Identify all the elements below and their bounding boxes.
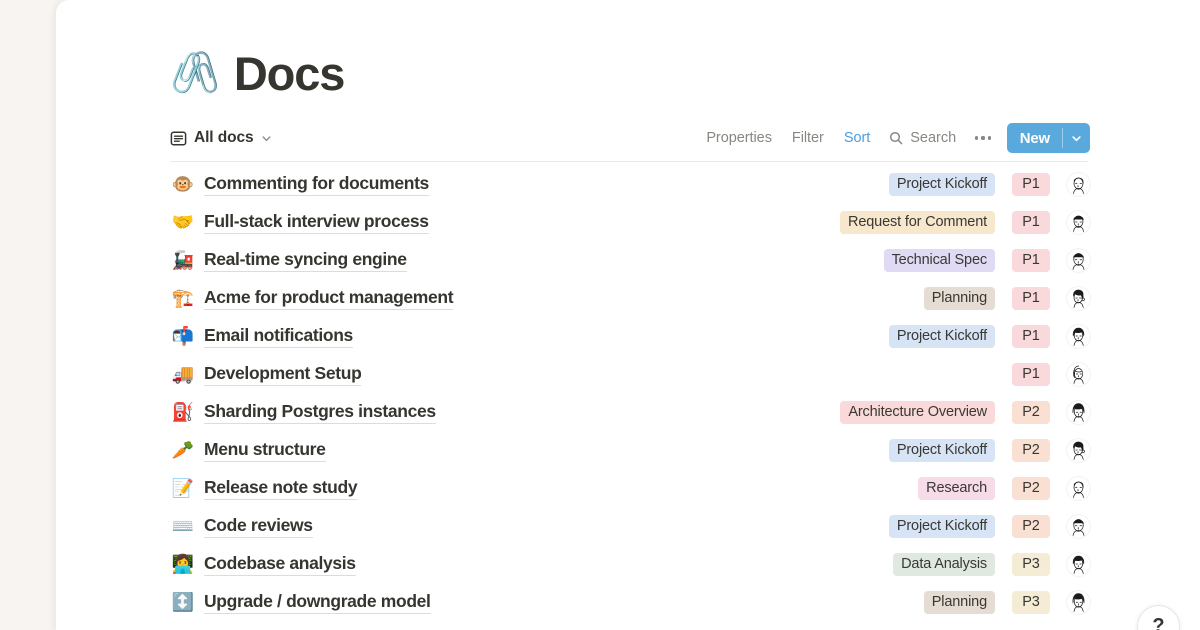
doc-tag-badge[interactable]: Data Analysis xyxy=(893,553,995,576)
doc-title-link[interactable]: Sharding Postgres instances xyxy=(204,401,436,424)
toolbar-divider xyxy=(170,161,1088,162)
doc-title-link[interactable]: Menu structure xyxy=(204,439,326,462)
avatar[interactable] xyxy=(1067,249,1090,272)
keyboard-emoji: ⌨️ xyxy=(170,517,196,535)
technologist-emoji: 👩‍💻 xyxy=(170,555,196,573)
doc-list: 🐵Commenting for documentsProject Kickoff… xyxy=(170,165,1090,621)
doc-tag-badge[interactable]: Planning xyxy=(924,591,995,614)
doc-row[interactable]: 🐵Commenting for documentsProject Kickoff… xyxy=(170,165,1090,203)
construction-crane-emoji: 🏗️ xyxy=(170,289,196,307)
doc-row[interactable]: 🤝Full-stack interview processRequest for… xyxy=(170,203,1090,241)
priority-badge[interactable]: P1 xyxy=(1012,249,1050,272)
search-label: Search xyxy=(910,130,956,146)
paperclip-chain-icon: 🖇️ xyxy=(170,53,220,93)
filter-button[interactable]: Filter xyxy=(782,125,834,151)
doc-row[interactable]: ↕️Upgrade / downgrade modelPlanningP3 xyxy=(170,583,1090,621)
locomotive-emoji: 🚂 xyxy=(170,251,196,269)
priority-badge[interactable]: P1 xyxy=(1012,173,1050,196)
doc-row[interactable]: 👩‍💻Codebase analysisData AnalysisP3 xyxy=(170,545,1090,583)
search-button[interactable]: Search xyxy=(880,125,965,151)
doc-row[interactable]: 🥕Menu structureProject KickoffP2 xyxy=(170,431,1090,469)
page-title-text: Docs xyxy=(234,50,345,97)
chevron-down-icon xyxy=(261,133,272,144)
help-button[interactable]: ? xyxy=(1137,605,1180,630)
priority-badge[interactable]: P3 xyxy=(1012,591,1050,614)
handshake-emoji: 🤝 xyxy=(170,213,196,231)
priority-badge[interactable]: P2 xyxy=(1012,401,1050,424)
view-selector-label: All docs xyxy=(194,129,254,147)
avatar[interactable] xyxy=(1067,401,1090,424)
priority-badge[interactable]: P1 xyxy=(1012,363,1050,386)
avatar[interactable] xyxy=(1067,173,1090,196)
priority-badge[interactable]: P3 xyxy=(1012,553,1050,576)
doc-title-link[interactable]: Codebase analysis xyxy=(204,553,356,576)
content-inner: 🖇️ Docs All docs xyxy=(170,0,1090,621)
avatar[interactable] xyxy=(1067,515,1090,538)
memo-emoji: 📝 xyxy=(170,479,196,497)
doc-tag-badge[interactable]: Research xyxy=(918,477,995,500)
doc-tag-badge[interactable]: Project Kickoff xyxy=(889,439,995,462)
priority-badge[interactable]: P2 xyxy=(1012,439,1050,462)
up-down-arrow-emoji: ↕️ xyxy=(170,593,196,611)
page-root: 🖇️ Docs All docs xyxy=(0,0,1200,630)
doc-title-link[interactable]: Acme for product management xyxy=(204,287,453,310)
ellipsis-icon[interactable] xyxy=(965,131,1001,144)
sort-button[interactable]: Sort xyxy=(834,125,880,151)
doc-row[interactable]: 📬Email notificationsProject KickoffP1 xyxy=(170,317,1090,355)
search-icon xyxy=(889,131,903,145)
doc-title-link[interactable]: Development Setup xyxy=(204,363,361,386)
toolbar-actions: Properties Filter Sort Search xyxy=(696,123,1090,153)
doc-title-link[interactable]: Real-time syncing engine xyxy=(204,249,407,272)
doc-title-link[interactable]: Upgrade / downgrade model xyxy=(204,591,431,614)
doc-tag-badge[interactable]: Architecture Overview xyxy=(840,401,995,424)
carrot-emoji: 🥕 xyxy=(170,441,196,459)
doc-tag-badge[interactable]: Project Kickoff xyxy=(889,325,995,348)
new-button[interactable]: New xyxy=(1007,123,1090,153)
avatar[interactable] xyxy=(1067,325,1090,348)
priority-badge[interactable]: P1 xyxy=(1012,211,1050,234)
doc-tag-badge[interactable]: Request for Comment xyxy=(840,211,995,234)
priority-badge[interactable]: P2 xyxy=(1012,477,1050,500)
new-button-label: New xyxy=(1007,123,1062,153)
avatar[interactable] xyxy=(1067,287,1090,310)
avatar[interactable] xyxy=(1067,211,1090,234)
priority-badge[interactable]: P1 xyxy=(1012,287,1050,310)
doc-row[interactable]: 🚚Development SetupP1 xyxy=(170,355,1090,393)
doc-title-link[interactable]: Commenting for documents xyxy=(204,173,429,196)
avatar[interactable] xyxy=(1067,591,1090,614)
doc-row[interactable]: ⌨️Code reviewsProject KickoffP2 xyxy=(170,507,1090,545)
content-panel: 🖇️ Docs All docs xyxy=(56,0,1200,630)
chevron-down-icon[interactable] xyxy=(1063,123,1090,153)
fuel-pump-emoji: ⛽ xyxy=(170,403,196,421)
avatar[interactable] xyxy=(1067,553,1090,576)
delivery-truck-emoji: 🚚 xyxy=(170,365,196,383)
doc-title-link[interactable]: Code reviews xyxy=(204,515,313,538)
doc-tag-badge[interactable]: Planning xyxy=(924,287,995,310)
priority-badge[interactable]: P1 xyxy=(1012,325,1050,348)
doc-row[interactable]: 🏗️Acme for product managementPlanningP1 xyxy=(170,279,1090,317)
page-title: 🖇️ Docs xyxy=(170,42,1090,104)
doc-tag-badge[interactable]: Project Kickoff xyxy=(889,515,995,538)
doc-row[interactable]: 📝Release note studyResearchP2 xyxy=(170,469,1090,507)
doc-title-link[interactable]: Release note study xyxy=(204,477,357,500)
avatar[interactable] xyxy=(1067,477,1090,500)
doc-row[interactable]: 🚂Real-time syncing engineTechnical SpecP… xyxy=(170,241,1090,279)
doc-title-link[interactable]: Full-stack interview process xyxy=(204,211,429,234)
doc-title-link[interactable]: Email notifications xyxy=(204,325,353,348)
avatar[interactable] xyxy=(1067,363,1090,386)
properties-button[interactable]: Properties xyxy=(696,125,782,151)
priority-badge[interactable]: P2 xyxy=(1012,515,1050,538)
doc-tag-badge[interactable]: Technical Spec xyxy=(884,249,995,272)
avatar[interactable] xyxy=(1067,439,1090,462)
monkey-face-emoji: 🐵 xyxy=(170,175,196,193)
doc-tag-badge[interactable]: Project Kickoff xyxy=(889,173,995,196)
toolbar: All docs Properties Filter Sort xyxy=(170,118,1090,158)
doc-row[interactable]: ⛽Sharding Postgres instancesArchitecture… xyxy=(170,393,1090,431)
view-selector-all-docs[interactable]: All docs xyxy=(170,126,276,150)
mailbox-emoji: 📬 xyxy=(170,327,196,345)
document-list-icon xyxy=(170,130,187,147)
